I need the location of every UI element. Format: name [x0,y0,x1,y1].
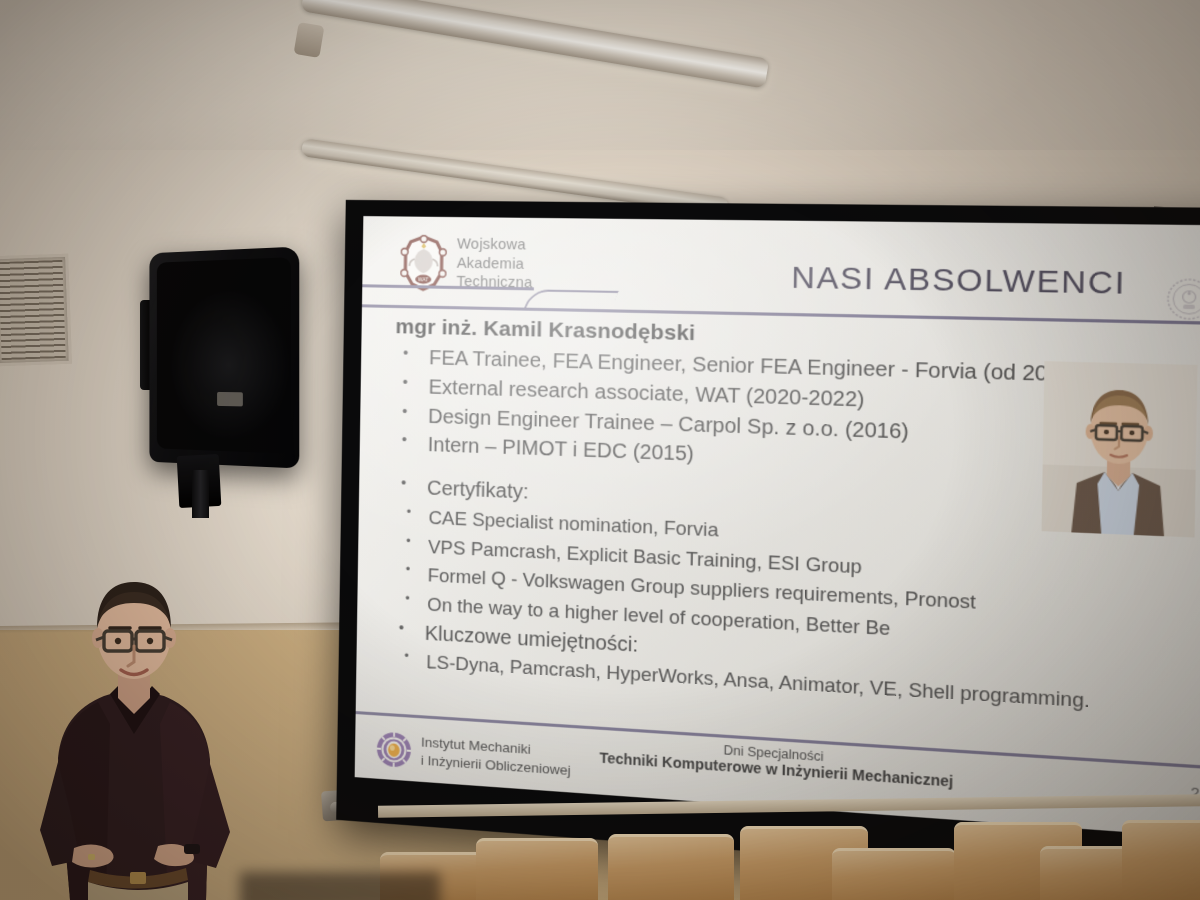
lecture-hall-seating [380,812,1200,900]
graduate-portrait-photo [1042,361,1198,537]
lecture-hall-photo: WAT Wojskowa Akademia Techniczna NASI AB… [0,0,1200,900]
ventilation-grille-icon [0,254,72,367]
light-fixture-end-cap [294,22,325,58]
wat-crest-logo-icon: WAT [400,235,447,292]
slide-header: WAT Wojskowa Akademia Techniczna NASI AB… [362,216,1200,324]
portrait-illustration [1042,361,1198,537]
wat-line-1: Wojskowa [457,235,533,255]
presenter-person [18,548,248,900]
wat-line-3: Techniczna [456,273,532,293]
projection-screen: WAT Wojskowa Akademia Techniczna NASI AB… [336,200,1200,889]
seat-back [476,838,598,900]
wat-seal-watermark-icon [1165,277,1200,322]
institute-gear-logo-icon [375,729,414,770]
wat-org-name: Wojskowa Akademia Techniczna [456,235,533,293]
slide-title: NASI ABSOLWENCI [791,261,1127,303]
seat-back [1122,820,1200,900]
seat-back [832,848,956,900]
svg-text:WAT: WAT [418,278,429,284]
presenter-illustration [18,548,248,900]
speaker-grille [157,257,291,454]
vent-slats [0,260,66,360]
seat-back [608,834,734,900]
speaker-mount-pole [192,470,209,518]
wat-line-2: Akademia [457,254,533,274]
floor-shadow [240,872,440,900]
wall-loudspeaker-icon [149,247,299,469]
presentation-slide: WAT Wojskowa Akademia Techniczna NASI AB… [355,216,1200,839]
speaker-brand-badge [217,392,243,406]
institute-name: Instytut Mechaniki i Inżynierii Obliczen… [421,734,572,780]
